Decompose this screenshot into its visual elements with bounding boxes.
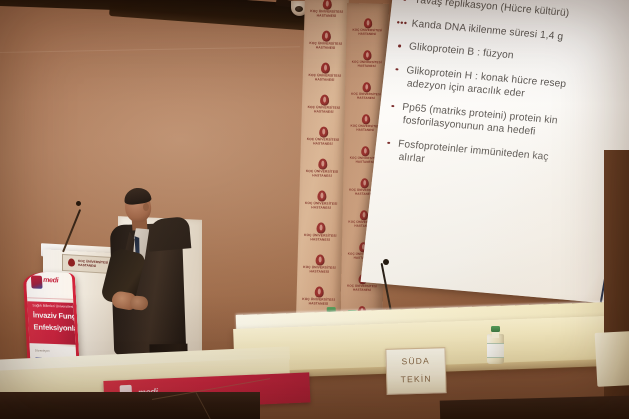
backdrop-logo-line2: HASTANESİ	[356, 128, 374, 132]
rollup-footer-line-0: Düzenleyen	[35, 348, 50, 353]
bottle-label	[487, 343, 504, 358]
koc-hospital-emblem-icon	[361, 146, 369, 156]
koc-hospital-emblem-icon	[320, 62, 329, 73]
rollup-title-line1: İnvaziv Fungal	[33, 310, 82, 321]
backdrop-logo-line2: HASTANESİ	[353, 288, 371, 292]
backdrop-logo-line2: HASTANESİ	[313, 141, 333, 146]
slide-bullet-line1: Glikoprotein B : füzyon	[408, 41, 514, 61]
podium-plate-line2: HASTANESİ	[78, 263, 96, 268]
backdrop-logo-text: KOÇ ÜNİVERSİTESİHASTANESİ	[304, 138, 342, 147]
rollup-title-line2: Enfeksiyonlar	[33, 322, 80, 333]
podium-microphone-head	[76, 201, 81, 206]
backdrop-logo-text: KOÇ ÜNİVERSİTESİHASTANESİ	[306, 42, 344, 51]
backdrop-logo-text: KOÇ ÜNİVERSİTESİHASTANESİ	[299, 298, 337, 307]
backdrop-logo-text: KOÇ ÜNİVERSİTESİHASTANESİ	[303, 170, 341, 179]
backdrop-logo-unit: KOÇ ÜNİVERSİTESİHASTANESİ	[302, 190, 341, 211]
koc-hospital-emblem-icon	[321, 30, 330, 41]
bottle-cap	[491, 326, 500, 332]
rollup-header: medi	[26, 271, 74, 300]
slide-bullet-line1: Kanda DNA ikilenme süresi 1,4 g	[411, 18, 564, 42]
koc-hospital-emblem-icon	[319, 126, 328, 137]
backdrop-logo-line2: HASTANESİ	[357, 96, 375, 100]
backdrop-logo-line2: HASTANESİ	[309, 301, 329, 306]
speaker-ear	[143, 203, 149, 211]
backdrop-logo-unit: KOÇ ÜNİVERSİTESİHASTANESİ	[300, 254, 339, 275]
backdrop-logo-text: KOÇ ÜNİVERSİTESİHASTANESİ	[302, 202, 340, 211]
backdrop-logo-text: KOÇ ÜNİVERSİTESİHASTANESİ	[349, 61, 384, 69]
koc-hospital-emblem-icon	[317, 190, 326, 201]
stage-floor	[0, 392, 260, 419]
koc-hospital-emblem-icon	[318, 158, 327, 169]
bottle-neck	[492, 331, 499, 338]
koc-hospital-emblem-icon	[360, 178, 368, 188]
backdrop-logo-text: KOÇ ÜNİVERSİTESİHASTANESİ	[306, 74, 344, 83]
podium-plate-text: KOÇ ÜNİVERSİTESİ HASTANESİ	[78, 259, 108, 269]
backdrop-logo-text: KOÇ ÜNİVERSİTESİHASTANESİ	[301, 234, 339, 243]
koc-hospital-emblem-icon	[315, 254, 324, 265]
backdrop-logo-line2: HASTANESİ	[356, 160, 374, 164]
slide-bullet-line1: Yavaş replikasyon (Hücre kültürü)	[414, 0, 570, 19]
backdrop-logo-line2: HASTANESİ	[358, 64, 376, 68]
backdrop-logo-unit: KOÇ ÜNİVERSİTESİHASTANESİ	[306, 30, 345, 51]
koc-hospital-emblem-icon	[314, 286, 323, 297]
backdrop-logo-text: KOÇ ÜNİVERSİTESİHASTANESİ	[348, 93, 383, 101]
backdrop-logo-line2: HASTANESİ	[310, 237, 330, 242]
koc-hospital-emblem-icon	[363, 18, 371, 28]
koc-hospital-emblem-icon	[322, 0, 331, 10]
backdrop-logo-text: KOÇ ÜNİVERSİTESİHASTANESİ	[307, 10, 345, 19]
backdrop-logo-line2: HASTANESİ	[311, 205, 331, 210]
slide-bullet-list: Yavaş replikasyon (Hücre kültürü)•••Kand…	[379, 0, 629, 196]
slide-bullet-dot-icon	[391, 104, 394, 107]
backdrop-logo-line2: HASTANESİ	[314, 109, 334, 114]
koc-hospital-emblem-icon	[319, 94, 328, 105]
koc-hospital-emblem-icon	[363, 50, 371, 60]
backdrop-logo-text: KOÇ ÜNİVERSİTESİHASTANESİ	[305, 106, 343, 115]
backdrop-logo-line2: HASTANESİ	[312, 173, 332, 178]
rollup-title-block: Sağlık Bilimleri Üniversitesi İnvaziv Fu…	[27, 301, 75, 345]
backdrop-logo-unit: KOÇ ÜNİVERSİTESİHASTANESİ	[349, 50, 384, 69]
water-bottle	[487, 326, 504, 364]
backdrop-logo-unit: KOÇ ÜNİVERSİTESİHASTANESİ	[307, 0, 346, 19]
backdrop-logo-unit: KOÇ ÜNİVERSİTESİHASTANESİ	[299, 286, 338, 307]
microphone-head	[383, 259, 389, 265]
slide-bullet-dot-icon	[395, 68, 398, 71]
backdrop-logo-text: KOÇ ÜNİVERSİTESİHASTANESİ	[350, 29, 385, 37]
right-paper-stack	[595, 331, 629, 387]
stage-floor-right	[440, 395, 629, 419]
koc-hospital-emblem-icon	[68, 258, 75, 266]
backdrop-logo-text: KOÇ ÜNİVERSİTESİHASTANESİ	[300, 266, 338, 275]
placard-last-name: TEKİN	[387, 373, 445, 385]
placard-first-name: SÜDA	[387, 355, 445, 367]
backdrop-logo-line2: HASTANESİ	[309, 269, 329, 274]
backdrop-logo-line2: HASTANESİ	[317, 13, 337, 18]
backdrop-logo-unit: KOÇ ÜNİVERSİTESİHASTANESİ	[350, 18, 385, 37]
rollup-subtitle: Sağlık Bilimleri Üniversitesi	[32, 303, 73, 308]
backdrop-logo-line2: HASTANESİ	[358, 32, 376, 36]
backdrop-logo-unit: KOÇ ÜNİVERSİTESİHASTANESİ	[305, 94, 344, 115]
conference-photo-scene: KOÇ ÜNİVERSİTESİHASTANESİKOÇ ÜNİVERSİTES…	[0, 0, 629, 419]
name-placard: SÜDA TEKİN	[385, 347, 446, 395]
backdrop-logo-unit: KOÇ ÜNİVERSİTESİHASTANESİ	[306, 62, 345, 83]
presentation-slide: Cytomegalo Yavaş replikasyon (Hücre kült…	[361, 0, 629, 306]
backdrop-logo-text: KOÇ ÜNİVERSİTESİHASTANESİ	[344, 285, 379, 293]
backdrop-logo-line2: HASTANESİ	[316, 45, 336, 50]
koc-hospital-emblem-icon	[316, 222, 325, 233]
backdrop-logo-unit: KOÇ ÜNİVERSİTESİHASTANESİ	[348, 82, 383, 101]
backdrop-logo-line2: HASTANESİ	[315, 77, 335, 82]
koc-hospital-emblem-icon	[361, 114, 369, 124]
koc-hospital-emblem-icon	[362, 82, 370, 92]
slide-bullet-dot-icon	[387, 141, 390, 144]
backdrop-logo-unit: KOÇ ÜNİVERSİTESİHASTANESİ	[301, 222, 340, 243]
backdrop-logo-unit: KOÇ ÜNİVERSİTESİHASTANESİ	[304, 126, 343, 147]
slide-bullet-dot-icon	[398, 44, 401, 47]
backdrop-logo-unit: KOÇ ÜNİVERSİTESİHASTANESİ	[303, 158, 342, 179]
rollup-logo-icon	[31, 275, 43, 288]
projection-screen: Cytomegalo Yavaş replikasyon (Hücre kült…	[361, 0, 629, 306]
rollup-brand-text: medi	[43, 277, 59, 285]
slide-bullet-stars-marker: •••	[396, 16, 408, 30]
